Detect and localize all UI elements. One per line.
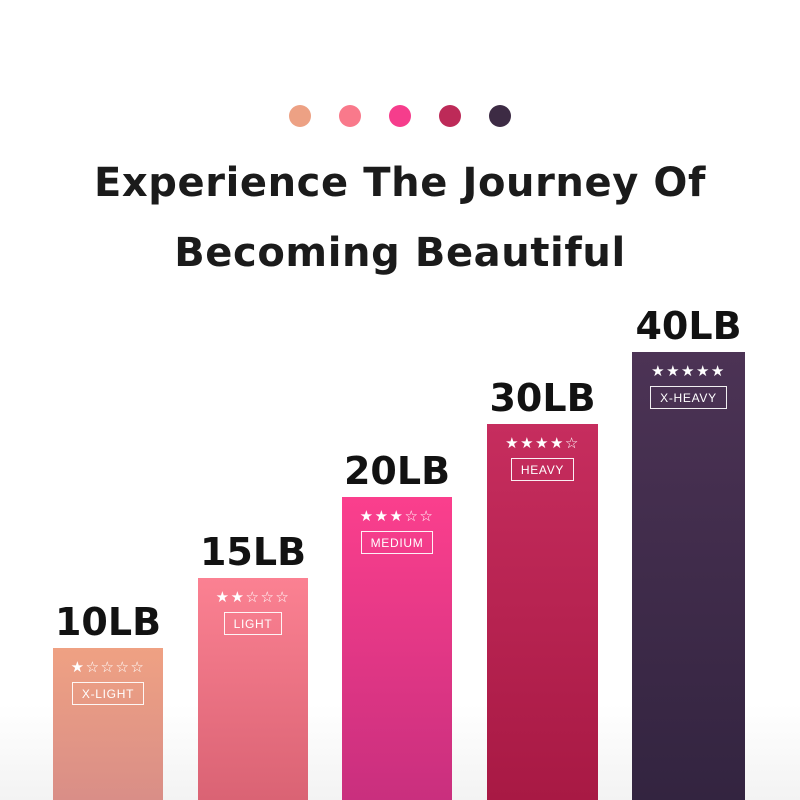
tier-badge: X-HEAVY: [650, 386, 727, 409]
bar-column-heavy[interactable]: 30LB★★★★☆HEAVY: [487, 424, 598, 800]
bar-weight-label: 15LB: [200, 530, 306, 574]
bar-badge-group: ★★★☆☆MEDIUM: [342, 509, 452, 554]
star-rating: ★★★☆☆: [360, 509, 435, 524]
star-rating: ★☆☆☆☆: [71, 660, 146, 675]
bar-weight-label: 20LB: [344, 449, 450, 493]
bar-badge-group: ★★★★☆HEAVY: [487, 436, 598, 481]
bar-weight-label: 10LB: [55, 600, 161, 644]
bar-column-medium[interactable]: 20LB★★★☆☆MEDIUM: [342, 497, 452, 800]
bar-body: ★★★★★X-HEAVY: [632, 352, 745, 800]
bar-body: ★★★☆☆MEDIUM: [342, 497, 452, 800]
bar-badge-group: ★★★★★X-HEAVY: [632, 364, 745, 409]
star-rating: ★★★★★: [651, 364, 726, 379]
star-rating: ★★☆☆☆: [216, 590, 291, 605]
bar-weight-label: 40LB: [635, 304, 741, 348]
bar-weight-label: 30LB: [489, 376, 595, 420]
tier-badge: HEAVY: [511, 458, 574, 481]
bar-body: ★☆☆☆☆X-LIGHT: [53, 648, 163, 800]
tier-badge: X-LIGHT: [72, 682, 144, 705]
resistance-bar-chart: 10LB★☆☆☆☆X-LIGHT15LB★★☆☆☆LIGHT20LB★★★☆☆M…: [0, 0, 800, 800]
bar-body: ★★☆☆☆LIGHT: [198, 578, 308, 800]
bar-column-x-heavy[interactable]: 40LB★★★★★X-HEAVY: [632, 352, 745, 800]
bar-fill: [632, 352, 745, 800]
star-rating: ★★★★☆: [505, 436, 580, 451]
tier-badge: MEDIUM: [361, 531, 434, 554]
bar-badge-group: ★★☆☆☆LIGHT: [198, 590, 308, 635]
bar-column-light[interactable]: 15LB★★☆☆☆LIGHT: [198, 578, 308, 800]
bar-column-x-light[interactable]: 10LB★☆☆☆☆X-LIGHT: [53, 648, 163, 800]
infographic-canvas: Experience The Journey Of Becoming Beaut…: [0, 0, 800, 800]
bar-body: ★★★★☆HEAVY: [487, 424, 598, 800]
bar-badge-group: ★☆☆☆☆X-LIGHT: [53, 660, 163, 705]
tier-badge: LIGHT: [224, 612, 283, 635]
